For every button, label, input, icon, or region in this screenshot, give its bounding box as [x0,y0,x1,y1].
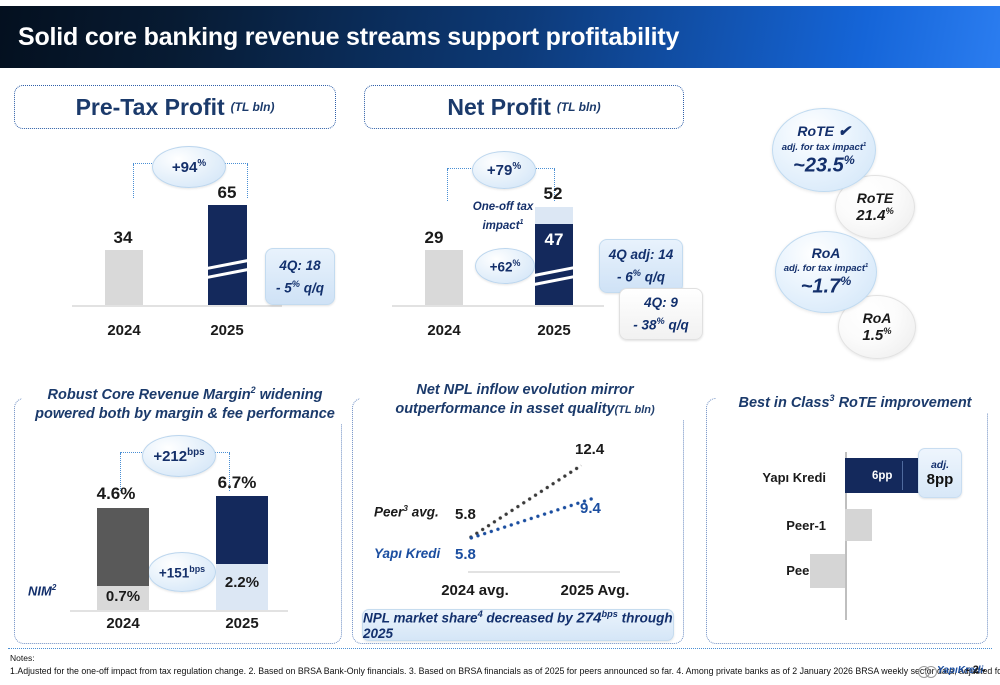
pretax-title-chip: Pre-Tax Profit (TL bln) [14,85,336,129]
pretax-value-2025: 65 [190,183,264,203]
notes-heading: Notes: [10,653,35,663]
slide: Solid core banking revenue streams suppo… [0,0,1000,685]
roa-adjusted-circle: RoA adj. for tax impact1 ~1.7% [775,231,877,313]
rote-label: RoTE✔ [797,122,850,140]
netprofit-value-2025-adj: 47 [535,230,573,250]
notes-text: 1.Adjusted for the one-off impact from t… [10,666,1000,676]
roa-plain-value: 1.5% [862,326,891,344]
npl-ribbon-text: NPL market share4 decreased by 274bps th… [363,609,673,642]
margin-nim-growth-bubble: +151bps [148,552,216,592]
npl-baseline [468,571,620,573]
pretax-axis-2024: 2024 [87,322,161,339]
footer-divider [8,648,992,649]
margin-baseline [70,610,288,612]
rote-plain-label: RoTE [857,190,894,206]
netprofit-baseline [392,305,604,307]
netprofit-4q-callout: 4Q: 9 - 38% q/q [619,288,703,340]
margin-axis-2025: 2025 [204,615,280,632]
margin-total-2025: 6.7% [197,473,277,493]
roa-value: ~1.7% [801,274,852,299]
page-title: Solid core banking revenue streams suppo… [18,23,679,52]
npl-peer-label: Peer3 avg. [374,503,439,520]
margin-panel-title: Robust Core Revenue Margin2 widening pow… [22,381,348,424]
margin-nim-label: NIM2 [28,583,56,598]
netprofit-bar-2025-oneoff [535,207,573,224]
netprofit-axis-2025: 2025 [516,322,592,339]
pretax-4q-callout: 4Q: 18 - 5% q/q [265,248,335,305]
pretax-units: (TL bln) [231,100,275,114]
roa-note: adj. for tax impact1 [784,261,869,274]
pretax-bar-2024 [105,250,143,306]
bestinclass-adj-badge: adj. 8pp [918,448,962,498]
pretax-growth-bubble: +94% [152,146,226,188]
pretax-4q-line2: - 5% q/q [276,275,324,298]
bestinclass-bar-peer2 [810,554,845,588]
margin-nim-2024: 0.7% [97,588,149,605]
bestinclass-badge-note: adj. [931,459,949,471]
bestinclass-row-label-1: Peer-1 [716,518,826,533]
axis-break-icon [208,205,247,306]
slide-header: Solid core banking revenue streams suppo… [0,6,1000,68]
bestinclass-yk-value: 6pp [872,470,892,482]
netprofit-title: Net Profit [447,94,551,121]
netprofit-bar-2024 [425,250,463,306]
page-number: - 2 - [966,664,986,676]
logo-rings-icon [918,666,935,676]
netprofit-units: (TL bln) [557,100,601,114]
npl-peer-end: 12.4 [575,441,604,458]
roa-label: RoA [812,245,841,261]
netprofit-title-chip: Net Profit (TL bln) [364,85,684,129]
margin-axis-2024: 2024 [85,615,161,632]
bestinclass-bar-divider [902,461,903,490]
pretax-title: Pre-Tax Profit [76,94,225,121]
pretax-value-2024: 34 [86,228,160,248]
rote-plain-value: 21.4% [856,206,893,224]
pretax-baseline [72,305,282,307]
netprofit-axis-2024: 2024 [406,322,482,339]
netprofit-growth-inner-bubble: +62% [475,248,535,284]
roa-plain-label: RoA [863,310,892,326]
rote-adjusted-circle: RoTE✔ adj. for tax impact1 ~23.5% [772,108,876,192]
pretax-growth-unit: % [197,158,206,169]
npl-market-share-ribbon: NPL market share4 decreased by 274bps th… [362,609,674,641]
bestinclass-badge-value: 8pp [927,471,954,488]
npl-bank-start: 5.8 [455,546,476,563]
margin-bar-2024-upper [97,508,149,586]
margin-total-growth-bubble: +212bps [142,435,216,477]
rote-note: adj. for tax impact1 [782,140,867,153]
rote-value: ~23.5% [793,153,855,178]
bestinclass-panel-title: Best in Class3 RoTE improvement [716,389,994,413]
bestinclass-row-label-0: Yapı Kredi [716,470,826,485]
check-icon: ✔ [838,123,851,140]
netprofit-value-2024: 29 [403,228,465,248]
pretax-bar-2025 [208,205,247,306]
netprofit-4q-adj-callout: 4Q adj: 14 - 6% q/q [599,239,683,293]
margin-nim-2025: 2.2% [216,574,268,591]
netprofit-growth-value: +79 [487,162,512,179]
npl-axis-2024: 2024 avg. [420,582,530,599]
margin-bar-2025-upper [216,496,268,564]
bestinclass-bar-peer1 [845,509,872,541]
margin-total-2024: 4.6% [76,484,156,504]
npl-bank-label: Yapı Kredi [374,546,440,561]
pretax-growth-value: +94 [172,159,197,176]
npl-panel-title: Net NPL inflow evolution mirror outperfo… [360,381,690,420]
pretax-4q-line1: 4Q: 18 [279,256,320,275]
npl-axis-2025: 2025 Avg. [540,582,650,599]
netprofit-value-2025-total: 52 [522,184,584,204]
pretax-axis-2025: 2025 [190,322,264,339]
npl-peer-start: 5.8 [455,506,476,523]
